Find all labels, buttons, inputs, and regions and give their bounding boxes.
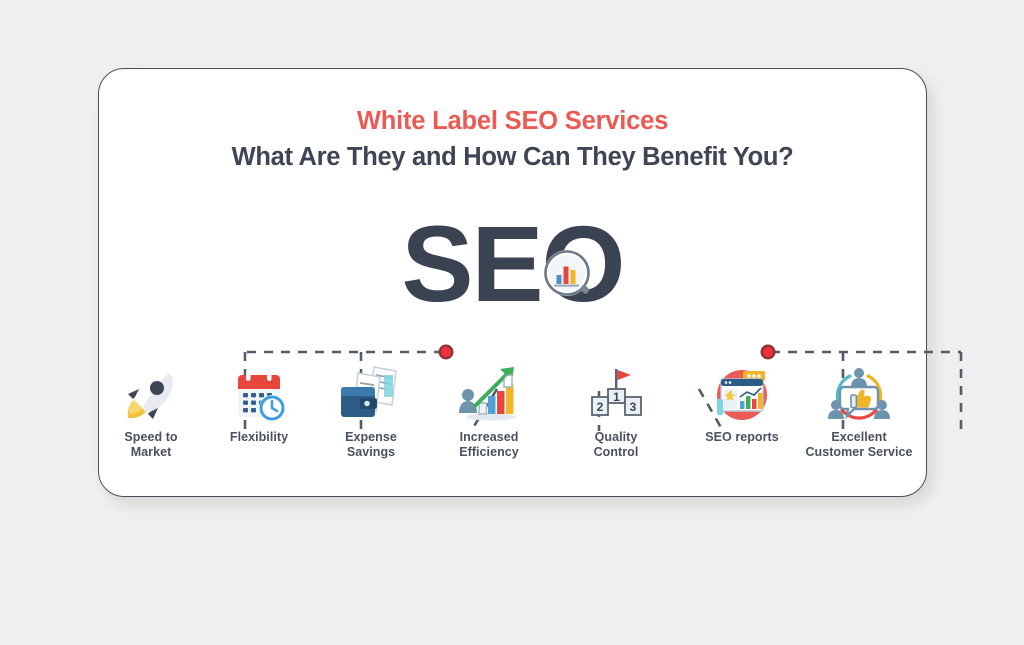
svg-text:2: 2 [597,400,604,414]
calendar-clock-icon [194,361,324,423]
infographic-card: White Label SEO Services What Are They a… [98,68,927,497]
benefit-label: Flexibility [194,430,324,445]
connector-dot-left [439,345,454,360]
page-title: White Label SEO Services [99,107,926,135]
page-subtitle: What Are They and How Can They Benefit Y… [99,143,926,171]
benefit-label: Excellent Customer Service [794,430,924,459]
connector-dot-right [761,345,776,360]
magnifier-bar-chart-icon [542,248,600,306]
benefit-item-expense-savings[interactable]: Expense Savings [306,361,436,459]
benefit-item-customer-service[interactable]: Excellent Customer Service [794,361,924,459]
benefit-item-seo-reports[interactable]: SEO reports [677,361,807,445]
people-thumbsup-icon [794,361,924,423]
svg-text:1: 1 [613,390,620,404]
seo-logo: SEO [99,212,926,322]
benefit-item-increased-efficiency[interactable]: Increased Efficiency [424,361,554,459]
podium-flag-icon: 1 2 3 [551,361,681,423]
benefit-item-flexibility[interactable]: Flexibility [194,361,324,445]
person-growth-chart-icon [424,361,554,423]
benefit-label: Quality Control [551,430,681,459]
benefit-label: Increased Efficiency [424,430,554,459]
infographic-canvas: White Label SEO Services What Are They a… [0,0,1024,576]
benefit-label: SEO reports [677,430,807,445]
wallet-receipt-icon [306,361,436,423]
benefit-item-quality-control[interactable]: 1 2 3 Quality Control [551,361,681,459]
browser-report-icon [677,361,807,423]
svg-text:3: 3 [630,400,637,414]
benefit-label: Expense Savings [306,430,436,459]
header-block: White Label SEO Services What Are They a… [99,107,926,171]
